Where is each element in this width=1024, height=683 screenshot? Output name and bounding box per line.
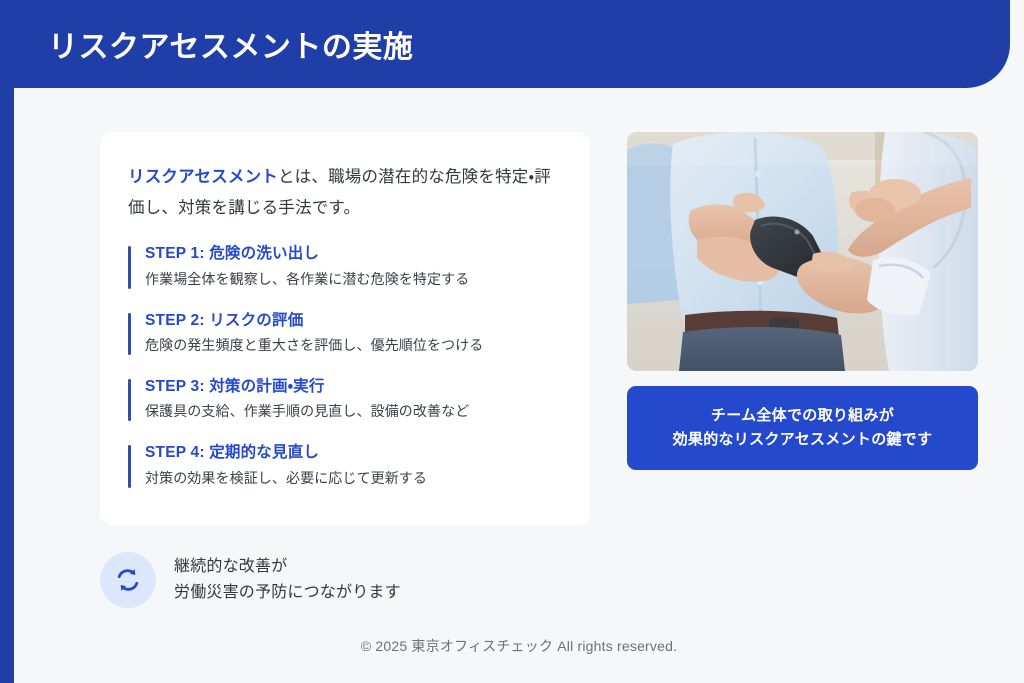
footer-copyright: © 2025 東京オフィスチェック All rights reserved. [14,636,1024,656]
step-title: STEP 3: 対策の計画・実行 [145,376,562,398]
note-line-2: 労働災害の予防につながります [174,580,401,606]
step-description: 作業場全体を観察し、各作業に潜む危険を特定する [145,269,562,290]
step-title: STEP 4: 定期的な見直し [145,442,562,464]
left-accent-rail [0,0,14,683]
step-title: STEP 2: リスクの評価 [145,310,562,332]
callout-text: チーム全体での取り組みが 効果的なリスクアセスメントの鍵です [673,404,933,452]
intro-paragraph: リスクアセスメントとは、職場の潜在的な危険を特定・評価し、対策を講じる手法です。 [128,162,562,223]
slide-root: リスクアセスメントの実施 リスクアセスメントとは、職場の潜在的な危険を特定・評価… [0,0,1024,683]
content-card: リスクアセスメントとは、職場の潜在的な危険を特定・評価し、対策を講じる手法です。… [100,132,590,525]
intro-highlight: リスクアセスメント [128,168,278,186]
note-text: 継続的な改善が 労働災害の予防につながります [174,554,401,606]
callout-line-1: チーム全体での取り組みが [673,404,933,428]
step-description: 危険の発生頻度と重大さを評価し、優先順位をつける [145,335,562,356]
note-line-1: 継続的な改善が [174,554,401,580]
steps-list: STEP 1: 危険の洗い出し 作業場全体を観察し、各作業に潜む危険を特定する … [128,243,562,489]
page-title: リスクアセスメントの実施 [48,22,413,66]
continuous-improvement-note: 継続的な改善が 労働災害の予防につながります [100,552,401,608]
callout-line-2: 効果的なリスクアセスメントの鍵です [673,428,933,452]
step-description: 保護具の支給、作業手順の見直し、設備の改善など [145,401,562,422]
page-header: リスクアセスメントの実施 [0,0,1010,88]
callout-box: チーム全体での取り組みが 効果的なリスクアセスメントの鍵です [627,386,978,470]
step-item-2: STEP 2: リスクの評価 危険の発生頻度と重大さを評価し、優先順位をつける [128,310,562,356]
step-item-3: STEP 3: 対策の計画・実行 保護具の支給、作業手順の見直し、設備の改善など [128,376,562,422]
business-people-smartphone-photo [627,132,978,371]
step-item-1: STEP 1: 危険の洗い出し 作業場全体を観察し、各作業に潜む危険を特定する [128,243,562,289]
step-title: STEP 1: 危険の洗い出し [145,243,562,265]
sync-refresh-icon [100,552,156,608]
step-item-4: STEP 4: 定期的な見直し 対策の効果を検証し、必要に応じて更新する [128,442,562,488]
step-description: 対策の効果を検証し、必要に応じて更新する [145,468,562,489]
